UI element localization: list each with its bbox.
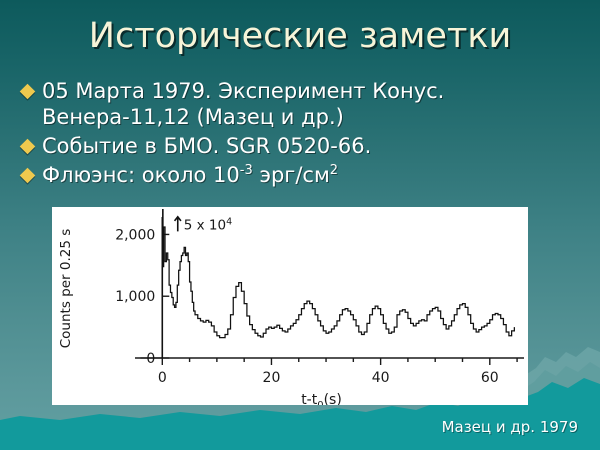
up-arrow-icon [175,217,181,232]
bullet-list: 05 Марта 1979. Эксперимент Конус. Венера… [22,78,578,191]
fluence-prefix: Флюэнс: около 10 [42,163,240,187]
bullet-text-3: Флюэнс: около 10-3 эрг/см2 [42,162,578,188]
fluence-exponent: -3 [240,163,253,178]
svg-text:t-t0(s): t-t0(s) [301,392,342,405]
fluence-units-exponent: 2 [330,163,338,178]
x-axis-tick-label: 0 [158,370,167,386]
source-credit: Мазец и др. 1979 [442,418,578,436]
list-item[interactable]: 05 Марта 1979. Эксперимент Конус. Венера… [22,78,578,130]
page-title: Исторические заметки [0,14,600,58]
bullet-line-1a: 05 Марта 1979. Эксперимент Конус. [42,79,444,103]
y-axis-tick-label: 1,000 [115,289,155,305]
lightcurve-data-path [140,227,514,358]
diamond-bullet-icon [20,84,36,100]
y-axis-tick-label: 0 [146,351,155,367]
diamond-bullet-icon [20,139,36,155]
x-axis-tick-label: 40 [372,370,390,386]
y-axis-tick-label: 2,000 [115,227,155,243]
bullet-line-1b: Венера-11,12 (Мазец и др.) [42,105,344,129]
fluence-units: эрг/см [253,163,330,187]
bullet-text-2: Событие в БМО. SGR 0520-66. [42,133,578,159]
x-axis-title: t-t0(s) [301,392,342,405]
lightcurve-chart: 020406001,0002,000Counts per 0.25 st-t0(… [52,207,528,405]
x-axis-tick-label: 60 [481,370,499,386]
bullet-text-1: 05 Марта 1979. Эксперимент Конус. Венера… [42,78,578,130]
list-item[interactable]: Событие в БМО. SGR 0520-66. [22,133,578,159]
slide-canvas: Исторические заметки 05 Марта 1979. Эксп… [0,0,600,450]
list-item[interactable]: Флюэнс: около 10-3 эрг/см2 [22,162,578,188]
x-axis-tick-label: 20 [263,370,281,386]
y-axis-title: Counts per 0.25 s [58,229,74,349]
lightcurve-chart-panel: 020406001,0002,000Counts per 0.25 st-t0(… [52,207,528,405]
peak-annotation: 5 x 104 [184,216,232,233]
diamond-bullet-icon [20,168,36,184]
bullet-line-2a: Событие в БМО. SGR 0520-66. [42,134,371,158]
